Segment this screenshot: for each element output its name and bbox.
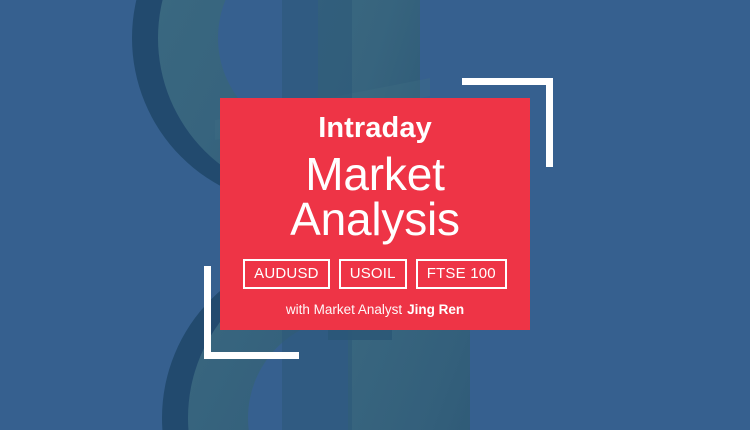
market-analysis-banner: Intraday Market Analysis AUDUSD USOIL FT… — [0, 0, 750, 430]
headline-line-2: Analysis — [290, 197, 460, 242]
content-card: Intraday Market Analysis AUDUSD USOIL FT… — [220, 98, 530, 330]
instrument-tag-usoil[interactable]: USOIL — [339, 259, 407, 289]
kicker-text: Intraday — [318, 114, 432, 143]
byline-prefix: with Market Analyst — [286, 302, 402, 317]
instrument-tag-row: AUDUSD USOIL FTSE 100 — [243, 259, 507, 289]
instrument-tag-ftse100[interactable]: FTSE 100 — [416, 259, 507, 289]
page-title: Market Analysis — [290, 152, 460, 241]
byline: with Market AnalystJing Ren — [286, 303, 464, 317]
headline-line-1: Market — [290, 152, 460, 197]
instrument-tag-audusd[interactable]: AUDUSD — [243, 259, 330, 289]
analyst-name: Jing Ren — [407, 302, 464, 317]
